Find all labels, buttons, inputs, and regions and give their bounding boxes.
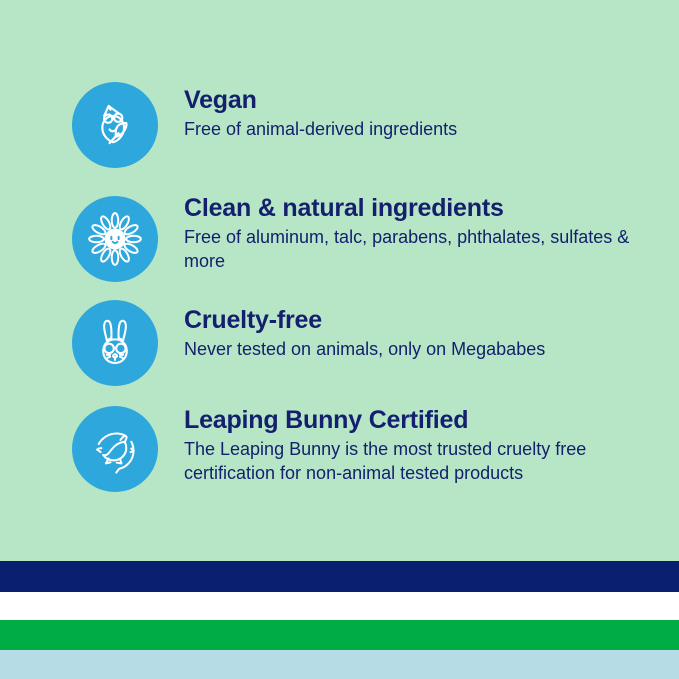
benefit-title: Clean & natural ingredients: [184, 194, 659, 222]
benefit-title: Leaping Bunny Certified: [184, 406, 659, 434]
bunny-sunglasses-icon: [72, 300, 158, 386]
benefit-text-vegan: Vegan Free of animal-derived ingredients: [158, 76, 659, 142]
benefit-title: Vegan: [184, 86, 659, 114]
benefit-title: Cruelty-free: [184, 306, 659, 334]
benefit-item-clean-natural-ingredients: Clean & natural ingredients Free of alum…: [72, 190, 659, 282]
vegan-character-icon: [72, 82, 158, 168]
footer-color-bands: [0, 561, 679, 679]
benefit-item-leaping-bunny-certified: Leaping Bunny Certified The Leaping Bunn…: [72, 400, 659, 492]
benefit-description: The Leaping Bunny is the most trusted cr…: [184, 438, 634, 486]
benefits-list: Vegan Free of animal-derived ingredients: [0, 76, 679, 492]
green-band: [0, 620, 679, 650]
navy-band: [0, 561, 679, 592]
benefit-item-vegan: Vegan Free of animal-derived ingredients: [72, 76, 659, 168]
benefit-text-leaping-bunny-certified: Leaping Bunny Certified The Leaping Bunn…: [158, 400, 659, 486]
benefit-text-cruelty-free: Cruelty-free Never tested on animals, on…: [158, 294, 659, 362]
daisy-flower-icon: [72, 196, 158, 282]
white-band: [0, 592, 679, 620]
light-blue-band: [0, 650, 679, 679]
benefit-description: Free of aluminum, talc, parabens, phthal…: [184, 226, 634, 274]
benefit-description: Never tested on animals, only on Megabab…: [184, 338, 634, 362]
benefit-text-clean-natural-ingredients: Clean & natural ingredients Free of alum…: [158, 190, 659, 274]
leaping-bunny-logo-icon: [72, 406, 158, 492]
product-benefits-infographic: Vegan Free of animal-derived ingredients: [0, 0, 679, 679]
benefit-item-cruelty-free: Cruelty-free Never tested on animals, on…: [72, 294, 659, 386]
benefit-description: Free of animal-derived ingredients: [184, 118, 634, 142]
